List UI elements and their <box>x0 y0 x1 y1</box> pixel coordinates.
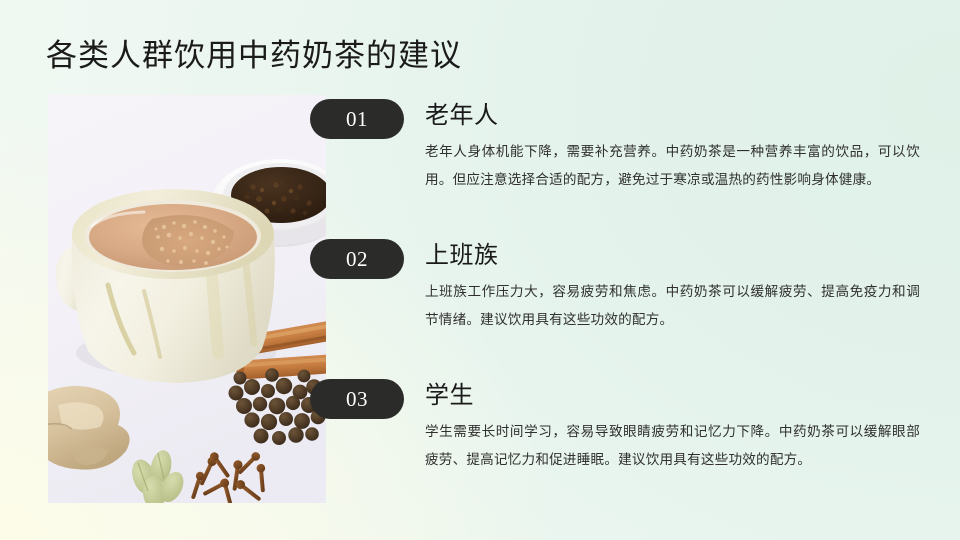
section-heading-2: 上班族 <box>425 239 920 273</box>
chai-spices-illustration <box>48 95 326 503</box>
slide-root: 各类人群饮用中药奶茶的建议 <box>0 0 960 540</box>
section-number-badge-3: 03 <box>310 379 404 419</box>
section-number-badge-1: 01 <box>310 99 404 139</box>
section-number-badge-2: 02 <box>310 239 404 279</box>
section-body-1: 老年人身体机能下降，需要补充营养。中药奶茶是一种营养丰富的饮品，可以饮用。但应注… <box>425 138 920 194</box>
chai-spices-photo <box>48 95 326 503</box>
section-text-1: 老年人 老年人身体机能下降，需要补充营养。中药奶茶是一种营养丰富的饮品，可以饮用… <box>425 99 920 194</box>
section-heading-1: 老年人 <box>425 99 920 133</box>
section-body-3: 学生需要长时间学习，容易导致眼睛疲劳和记忆力下降。中药奶茶可以缓解眼部疲劳、提高… <box>425 418 920 474</box>
page-title: 各类人群饮用中药奶茶的建议 <box>46 36 462 76</box>
section-body-2: 上班族工作压力大，容易疲劳和焦虑。中药奶茶可以缓解疲劳、提高免疫力和调节情绪。建… <box>425 278 920 334</box>
section-text-3: 学生 学生需要长时间学习，容易导致眼睛疲劳和记忆力下降。中药奶茶可以缓解眼部疲劳… <box>425 379 920 474</box>
section-heading-3: 学生 <box>425 379 920 413</box>
section-text-2: 上班族 上班族工作压力大，容易疲劳和焦虑。中药奶茶可以缓解疲劳、提高免疫力和调节… <box>425 239 920 334</box>
